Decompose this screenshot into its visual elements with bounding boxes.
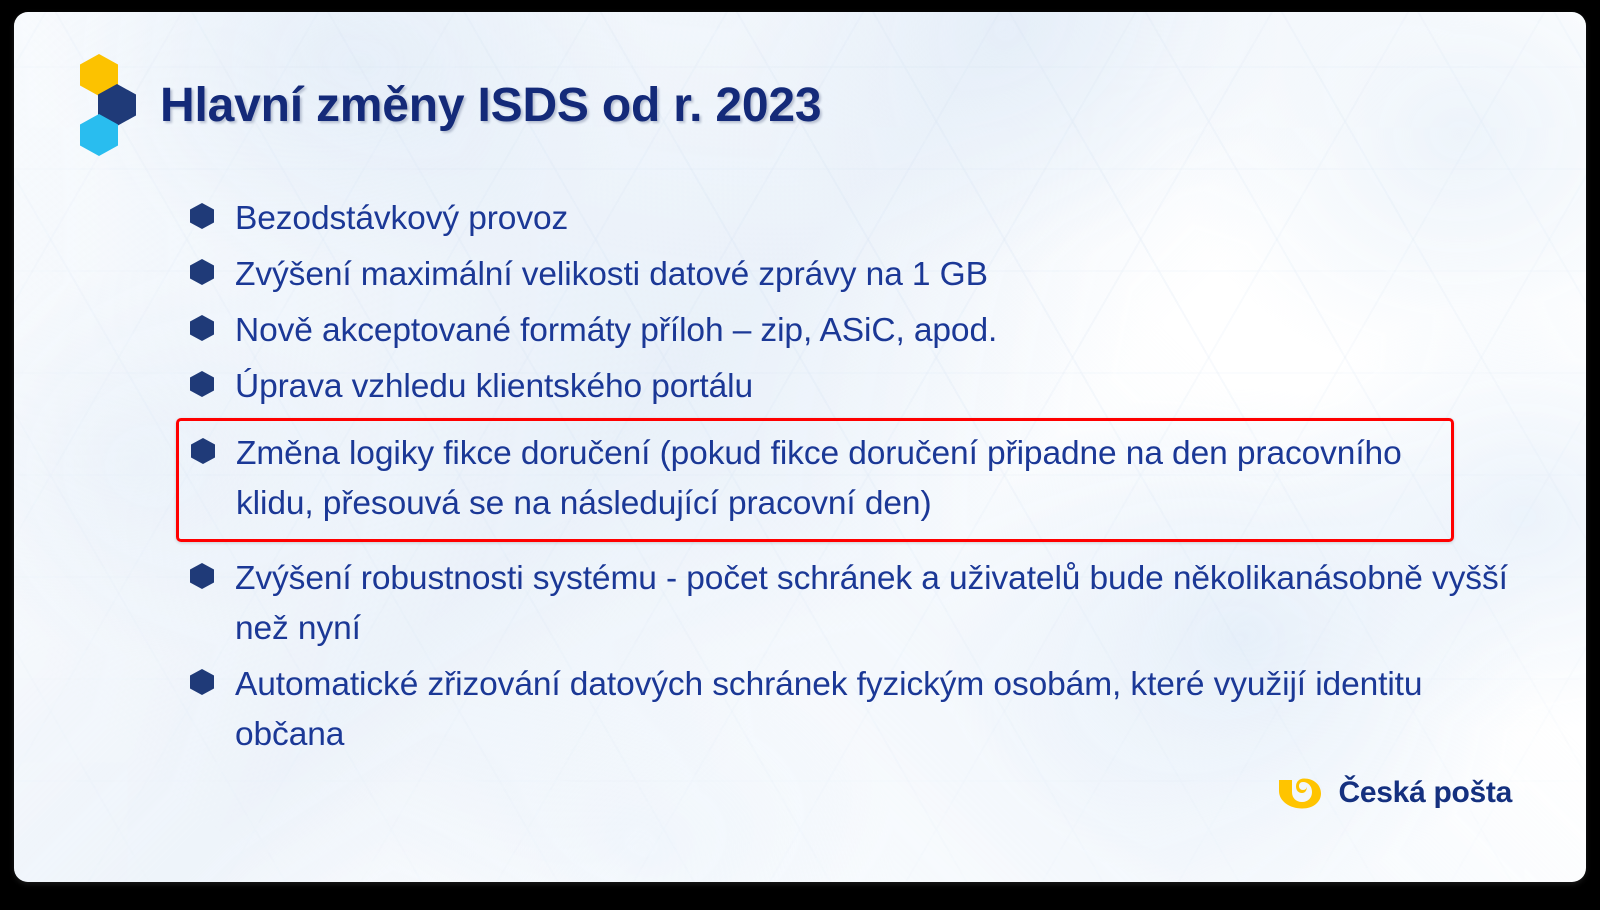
hexagon-bullet-icon — [190, 259, 214, 285]
hexagon-bullet-icon — [190, 669, 214, 695]
bullet-list: Bezodstávkový provoz Zvýšení maximální v… — [190, 194, 1520, 766]
list-item: Úprava vzhledu klientského portálu — [190, 362, 1520, 412]
hexagon-bullet-icon — [191, 438, 215, 464]
list-item: Zvýšení maximální velikosti datové zpráv… — [190, 250, 1520, 300]
list-item-label: Zvýšení robustnosti systému - počet schr… — [235, 554, 1520, 654]
list-item: Automatické zřizování datových schránek … — [190, 660, 1520, 760]
hexagon-bullet-icon — [190, 203, 214, 229]
isds-hexagon-logo — [74, 54, 136, 156]
post-horn-icon — [1277, 778, 1327, 809]
brand-name-label: Česká pošta — [1339, 776, 1512, 810]
slide-header: Hlavní změny ISDS od r. 2023 — [74, 54, 821, 156]
list-item-label: Zvýšení maximální velikosti datové zpráv… — [235, 250, 988, 300]
list-item-label: Změna logiky fikce doručení (pokud fikce… — [236, 429, 1441, 529]
list-item-label: Automatické zřizování datových schránek … — [235, 660, 1520, 760]
list-item: Bezodstávkový provoz — [190, 194, 1520, 244]
hexagon-bullet-icon — [190, 371, 214, 397]
ceska-posta-logo: Česká pošta — [1277, 776, 1512, 810]
slide-content: Hlavní změny ISDS od r. 2023 Bezodstávko… — [14, 12, 1586, 882]
highlighted-list-item: Změna logiky fikce doručení (pokud fikce… — [176, 418, 1454, 542]
slide-frame: Hlavní změny ISDS od r. 2023 Bezodstávko… — [0, 0, 1600, 910]
hexagon-bullet-icon — [190, 315, 214, 341]
list-item-label: Bezodstávkový provoz — [235, 194, 568, 244]
slide-canvas: Hlavní změny ISDS od r. 2023 Bezodstávko… — [14, 12, 1586, 882]
list-item-label: Úprava vzhledu klientského portálu — [235, 362, 753, 412]
hexagon-bullet-icon — [190, 563, 214, 589]
list-item: Nově akceptované formáty příloh – zip, A… — [190, 306, 1520, 356]
page-title: Hlavní změny ISDS od r. 2023 — [160, 78, 821, 133]
list-item-label: Nově akceptované formáty příloh – zip, A… — [235, 306, 997, 356]
list-item: Zvýšení robustnosti systému - počet schr… — [190, 554, 1520, 654]
